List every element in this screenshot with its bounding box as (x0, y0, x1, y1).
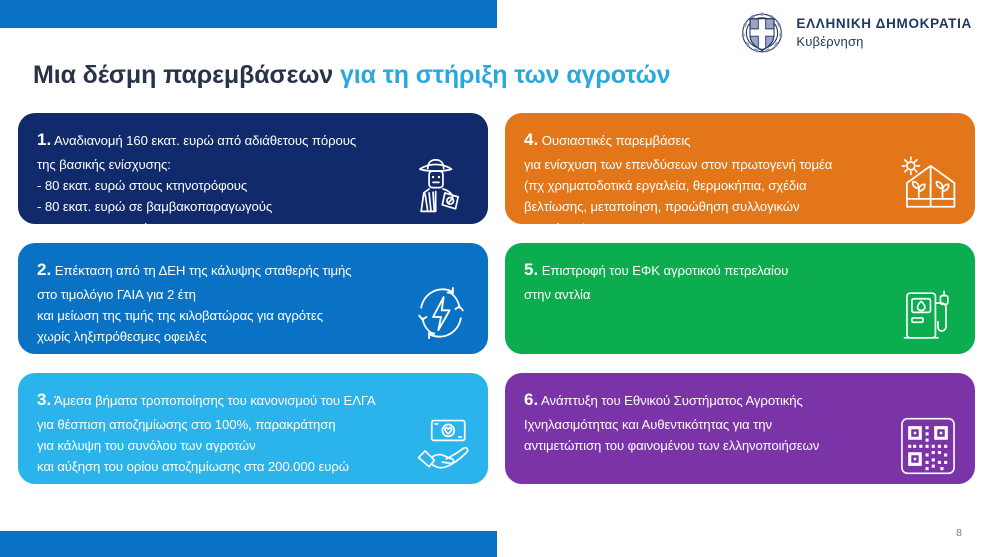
measure-card-1[interactable]: 1. Αναδιανομή 160 εκατ. ευρώ από αδιάθετ… (18, 113, 488, 224)
measure-card-4[interactable]: 4. Ουσιαστικές παρεμβάσεις για ενίσχυση … (505, 113, 975, 224)
measure-card-5-body: Επιστροφή του ΕΦΚ αγροτικού πετρελαίου σ… (524, 263, 788, 302)
page-title: Μια δέσμη παρεμβάσεων για τη στήριξη των… (33, 61, 670, 90)
measure-card-1-number: 1. (37, 130, 51, 149)
bottom-accent-bar (0, 531, 497, 557)
greenhouse-icon (895, 150, 961, 216)
fuel-pump-icon (897, 278, 959, 348)
measure-card-6-number: 6. (524, 390, 538, 409)
measure-card-5-number: 5. (524, 260, 538, 279)
measure-card-1-text: 1. Αναδιανομή 160 εκατ. ευρώ από αδιάθετ… (37, 126, 378, 224)
measure-card-6-body: Ανάπτυξη του Εθνικού Συστήματος Αγροτική… (524, 393, 819, 453)
organization-name: ΕΛΛΗΝΙΚΗ ΔΗΜΟΚΡΑΤΙΑ (796, 16, 972, 32)
page-number: 8 (956, 527, 962, 539)
qr-code-icon (897, 414, 959, 478)
measure-card-3-number: 3. (37, 390, 51, 409)
measure-card-6[interactable]: 6. Ανάπτυξη του Εθνικού Συστήματος Αγροτ… (505, 373, 975, 484)
measure-card-3-body: Άμεσα βήματα τροποποίησης του κανονισμού… (37, 393, 376, 474)
greek-coat-of-arms-icon (739, 10, 785, 56)
measure-card-4-text: 4. Ουσιαστικές παρεμβάσεις για ενίσχυση … (524, 126, 865, 224)
measures-grid: 1. Αναδιανομή 160 εκατ. ευρώ από αδιάθετ… (18, 113, 975, 495)
top-accent-bar (0, 0, 497, 28)
measure-card-3[interactable]: 3. Άμεσα βήματα τροποποίησης του κανονισ… (18, 373, 488, 484)
farmer-icon (404, 152, 470, 218)
measure-card-6-text: 6. Ανάπτυξη του Εθνικού Συστήματος Αγροτ… (524, 386, 865, 456)
organization-subtitle: Κυβέρνηση (796, 34, 972, 49)
page-title-part-2: για τη στήριξη των αγροτών (340, 61, 670, 89)
slide: ΕΛΛΗΝΙΚΗ ΔΗΜΟΚΡΑΤΙΑ Κυβέρνηση Μια δέσμη … (0, 0, 990, 557)
hand-with-money-icon (408, 410, 474, 476)
measure-card-2-number: 2. (37, 260, 51, 279)
government-logo: ΕΛΛΗΝΙΚΗ ΔΗΜΟΚΡΑΤΙΑ Κυβέρνηση (739, 10, 972, 56)
measure-card-5-text: 5. Επιστροφή του ΕΦΚ αγροτικού πετρελαίο… (524, 256, 865, 305)
measure-card-1-body: Αναδιανομή 160 εκατ. ευρώ από αδιάθετους… (37, 133, 356, 224)
energy-cycle-icon (408, 280, 474, 346)
measure-card-2[interactable]: 2. Επέκταση από τη ΔΕΗ της κάλυψης σταθε… (18, 243, 488, 354)
measure-card-3-text: 3. Άμεσα βήματα τροποποίησης του κανονισ… (37, 386, 378, 478)
measure-card-2-body: Επέκταση από τη ΔΕΗ της κάλυψης σταθερής… (37, 263, 351, 344)
page-title-part-1: Μια δέσμη παρεμβάσεων (33, 61, 340, 89)
measure-card-4-body: Ουσιαστικές παρεμβάσεις για ενίσχυση των… (524, 133, 832, 224)
measure-card-2-text: 2. Επέκταση από τη ΔΕΗ της κάλυψης σταθε… (37, 256, 378, 348)
measure-card-4-number: 4. (524, 130, 538, 149)
measure-card-5[interactable]: 5. Επιστροφή του ΕΦΚ αγροτικού πετρελαίο… (505, 243, 975, 354)
